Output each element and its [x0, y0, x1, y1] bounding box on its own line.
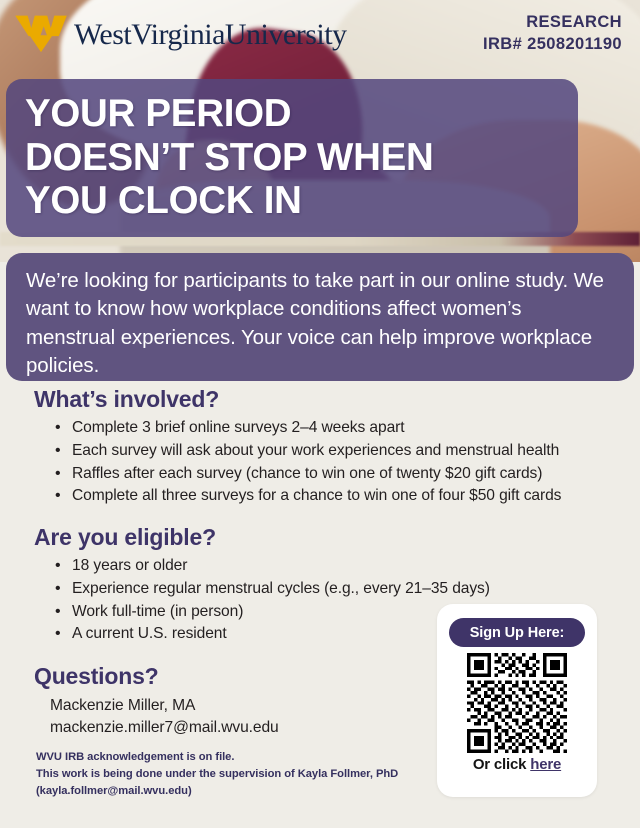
list-item: Raffles after each survey (chance to win… [0, 463, 640, 486]
list-item: Complete all three surveys for a chance … [0, 485, 640, 508]
list-item: Each survey will ask about your work exp… [0, 440, 640, 463]
headline-line-3: YOU CLOCK IN [25, 179, 302, 222]
description-band: We’re looking for participants to take p… [6, 253, 634, 381]
footer-line-1: WVU IRB acknowledgement is on file. [36, 749, 436, 766]
list-item: Complete 3 brief online surveys 2–4 week… [0, 417, 640, 440]
description-text: We’re looking for participants to take p… [26, 267, 614, 380]
headline-text: YOUR PERIOD DOESN’T STOP WHEN YOU CLOCK … [25, 92, 578, 223]
header: WestVirginiaUniversity RESEARCH IRB# 250… [0, 0, 640, 76]
headline-line-1: YOUR PERIOD [25, 92, 291, 135]
footer-line-2: This work is being done under the superv… [36, 766, 436, 783]
section-title-involved: What’s involved? [34, 386, 640, 413]
research-label: RESEARCH [483, 12, 622, 34]
footer-line-3: (kayla.follmer@mail.wvu.edu) [36, 783, 436, 800]
footer-disclaimer: WVU IRB acknowledgement is on file. This… [36, 749, 436, 800]
involved-list: Complete 3 brief online surveys 2–4 week… [0, 417, 640, 508]
wordmark-university: University [225, 18, 347, 51]
irb-number: IRB# 2508201190 [483, 34, 622, 56]
flying-wv-icon [14, 13, 68, 53]
list-item: 18 years or older [0, 555, 640, 578]
wordmark-west: West [74, 18, 131, 51]
wvu-logo: WestVirginiaUniversity [14, 13, 347, 53]
qr-caption: Or click here [437, 756, 597, 773]
section-title-eligible: Are you eligible? [34, 524, 640, 551]
sign-up-pill[interactable]: Sign Up Here: [449, 618, 585, 647]
qr-caption-link[interactable]: here [530, 756, 561, 773]
headline-band: YOUR PERIOD DOESN’T STOP WHEN YOU CLOCK … [6, 79, 578, 237]
headline-line-2: DOESN’T STOP WHEN [25, 136, 433, 179]
qr-code-icon[interactable] [457, 653, 577, 753]
irb-block: RESEARCH IRB# 2508201190 [483, 12, 622, 56]
signup-card[interactable]: Sign Up Here: [437, 604, 597, 797]
wordmark-virginia: Virginia [131, 18, 225, 51]
flyer-root: WestVirginiaUniversity RESEARCH IRB# 250… [0, 0, 640, 828]
list-item: Experience regular menstrual cycles (e.g… [0, 578, 640, 601]
wvu-wordmark: WestVirginiaUniversity [74, 20, 347, 50]
qr-code-svg [457, 653, 577, 753]
section-involved: What’s involved? Complete 3 brief online… [0, 386, 640, 508]
qr-caption-prefix: Or click [473, 756, 530, 773]
